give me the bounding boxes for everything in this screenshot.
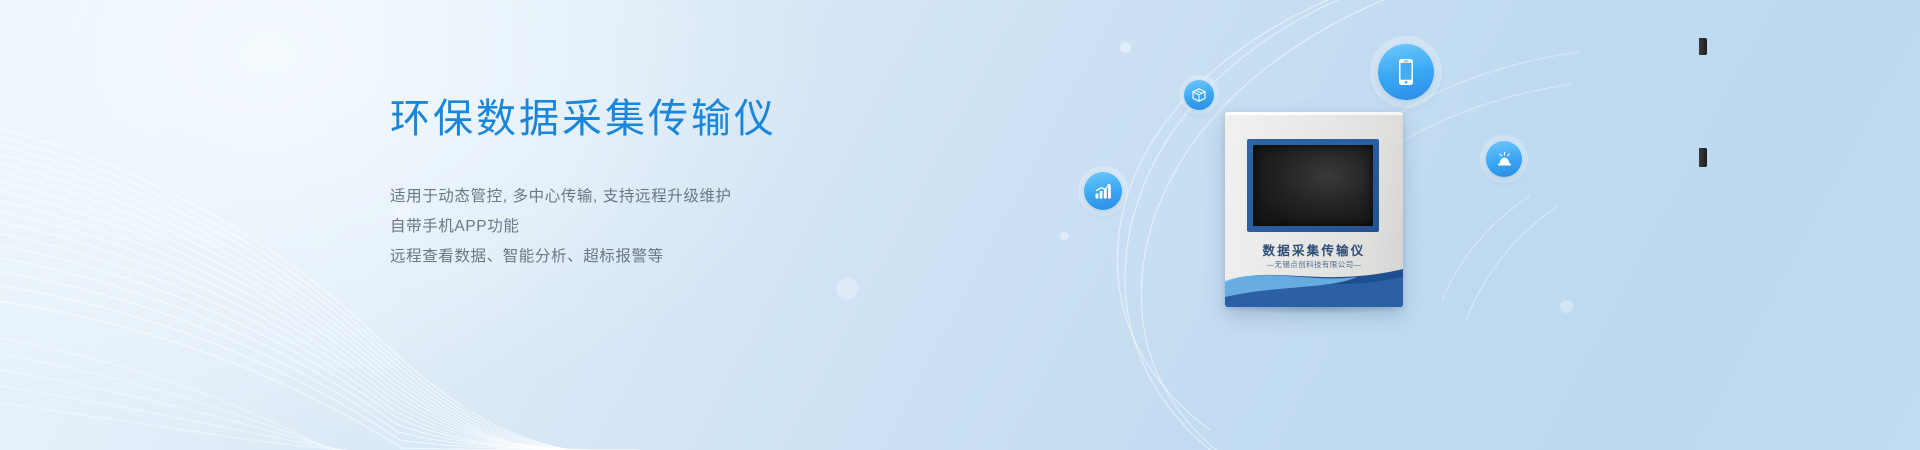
banner-subtitle-line-3: 远程查看数据、智能分析、超标报警等 [390, 242, 910, 272]
banner-copy-block: 环保数据采集传输仪 适用于动态管控, 多中心传输, 支持远程升级维护 自带手机A… [390, 96, 910, 272]
product-graphic: 数据采集传输仪 —无锡点创科技有限公司— [1060, 0, 1700, 450]
feature-icon-chart[interactable] [1084, 172, 1122, 210]
device-photo: 数据采集传输仪 —无锡点创科技有限公司— [1225, 112, 1403, 307]
banner-title: 环保数据采集传输仪 [390, 96, 910, 142]
bar-chart-icon [1093, 181, 1113, 201]
feature-icon-mobile-app[interactable] [1378, 44, 1434, 100]
device-screen [1253, 145, 1373, 226]
device-wave-footer [1225, 255, 1403, 307]
banner-subtitle-list: 适用于动态管控, 多中心传输, 支持远程升级维护 自带手机APP功能 远程查看数… [390, 182, 910, 272]
banner-subtitle-line-1: 适用于动态管控, 多中心传输, 支持远程升级维护 [390, 182, 910, 212]
feature-icon-package[interactable] [1184, 80, 1214, 110]
package-box-icon [1191, 87, 1207, 103]
device-side-port-top [1699, 38, 1707, 55]
banner-subtitle-line-2: 自带手机APP功能 [390, 212, 910, 242]
device-side-port-bottom [1699, 148, 1707, 167]
feature-icon-alarm[interactable] [1486, 141, 1522, 177]
mobile-phone-icon [1391, 57, 1421, 87]
device-screen-bezel [1247, 139, 1379, 232]
product-hero-banner: 环保数据采集传输仪 适用于动态管控, 多中心传输, 支持远程升级维护 自带手机A… [0, 0, 1920, 450]
alarm-light-icon [1495, 150, 1514, 169]
device-top-edge [1225, 112, 1403, 115]
decorative-bubble [836, 278, 858, 300]
